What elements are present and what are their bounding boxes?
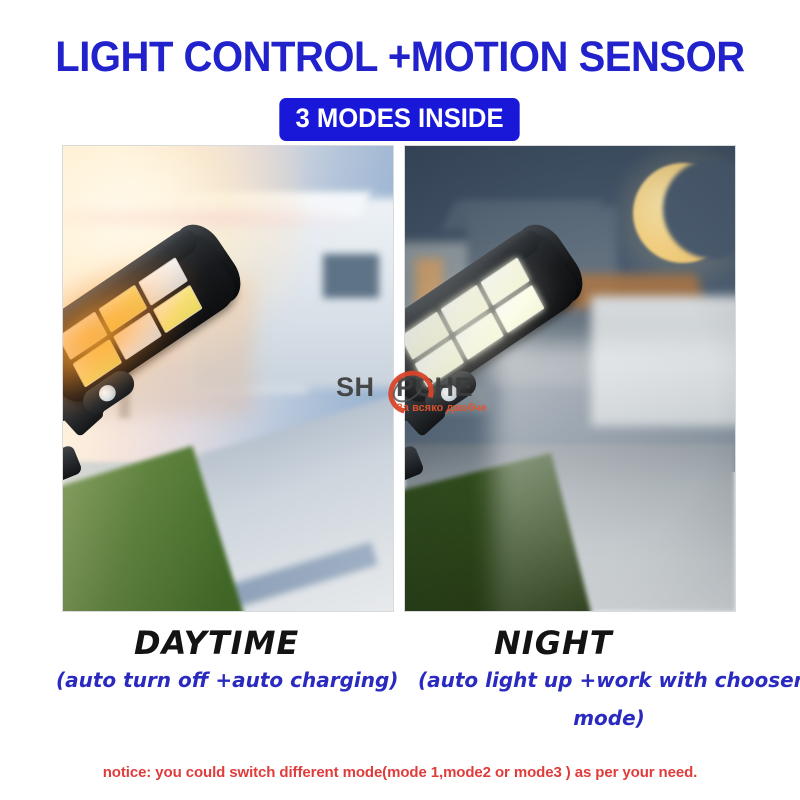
daytime-image-panel <box>62 145 394 612</box>
day-house-window <box>323 254 379 298</box>
motion-sensor-icon <box>96 382 119 405</box>
daytime-scene <box>63 146 393 611</box>
notice-text: notice: you could switch different mode(… <box>0 764 800 781</box>
night-caption-title: NIGHT <box>494 624 613 662</box>
night-scene <box>405 146 735 611</box>
page-title: LIGHT CONTROL +MOTION SENSOR <box>28 36 772 79</box>
modes-badge-container: 3 MODES INSIDE <box>0 98 800 141</box>
night-image-panel <box>404 145 736 612</box>
lamp-mount-clamp <box>405 444 425 490</box>
modes-badge: 3 MODES INSIDE <box>280 98 520 141</box>
lamp-mount-clamp <box>63 444 83 490</box>
motion-sensor-icon <box>438 382 461 405</box>
night-caption-sub-line1: (auto light up +work with choosen <box>418 668 800 692</box>
daytime-caption-sub: (auto turn off +auto charging) <box>56 668 398 692</box>
night-caption-sub-line2: mode) <box>418 706 800 730</box>
crescent-moon-icon <box>633 163 735 267</box>
daytime-caption-title: DAYTIME <box>134 624 299 662</box>
